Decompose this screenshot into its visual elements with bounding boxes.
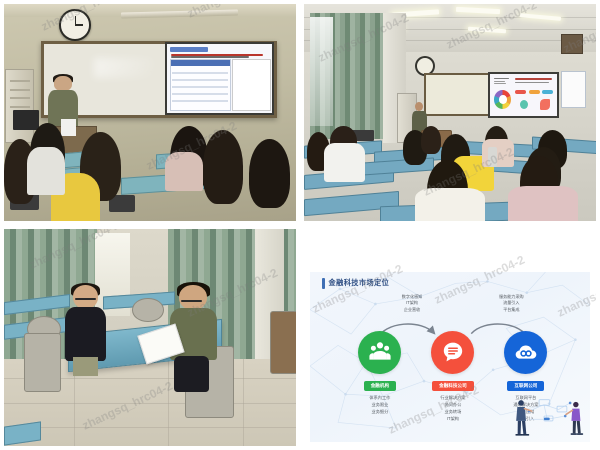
arrow-label-left: 数字化感知 IT架构 企业营收 (368, 294, 456, 313)
window (310, 17, 333, 126)
arrow-label-right-line-3: 平台集成 (465, 307, 558, 313)
bullet: 业务细分 (339, 409, 421, 416)
student-shirt (27, 147, 65, 195)
slide-text-line (515, 78, 552, 79)
handheld-device (61, 119, 76, 136)
slide-title-text: 金融科技市场定位 (329, 278, 390, 288)
slide-table (170, 59, 231, 111)
desktop-monitor (13, 110, 39, 130)
node-bullets-green: 体系内工作 业务限业 业务细分 (339, 395, 421, 415)
slide-text-line (494, 83, 506, 84)
panel-top-left: zhangsq_hrc04-2 zhangsq_hrc04-2 zhangsq_… (0, 0, 300, 225)
node-label-green: 金融机构 (364, 381, 396, 391)
student-shirt (482, 139, 514, 167)
person-right-head (179, 285, 207, 310)
node-fintech-company[interactable]: 金融科技公司 行业解决方案 协同办公 业务转场 IT架构 (412, 331, 494, 423)
illustration-person-left (516, 401, 532, 436)
panel-bottom-right: 金融科技市场定位 数字化感知 IT架构 企业营收 服务能力采购 流量引入 平台集… (300, 225, 600, 450)
title-accent-bar (322, 278, 325, 289)
interview-photo: zhangsq_hrc04-2 zhangsq_hrc04-2 zhangsq_… (4, 229, 296, 446)
student-shirt (324, 143, 365, 182)
slide-side-document (232, 59, 271, 111)
instructor-head (54, 76, 72, 92)
photo-collage: zhangsq_hrc04-2 zhangsq_hrc04-2 zhangsq_… (0, 0, 600, 450)
arrow-label-right: 服务能力采购 流量引入 平台集成 (465, 294, 558, 313)
slide-text-line (171, 54, 263, 56)
person-left-legs (73, 357, 98, 376)
student (421, 126, 441, 154)
slide-table-header (171, 60, 230, 65)
student-shirt (508, 186, 578, 221)
classroom-lecture-photo: zhangsq_hrc04-2 zhangsq_hrc04-2 zhangsq_… (4, 4, 296, 221)
slide-title: 金融科技市场定位 (322, 278, 390, 289)
node-circle-red (431, 331, 474, 374)
slide-block (542, 90, 553, 94)
people-group-icon (368, 340, 392, 364)
pie-chart (494, 90, 511, 109)
classroom-wide-photo: zhangsq_hrc04-2 zhangsq_hrc04-2 zhangsq_… (304, 4, 596, 221)
person-left-head (73, 285, 98, 308)
slide-table-row (172, 72, 229, 74)
illustration-person-right (566, 402, 583, 435)
cabinet (270, 311, 296, 374)
node-label-red: 金融科技公司 (432, 381, 474, 391)
wall-clock-icon (59, 9, 91, 40)
slide-text-line (494, 78, 509, 79)
slide-title-bar (170, 47, 208, 52)
air-conditioner-unit (5, 69, 33, 143)
arrow-label-left-line-3: 企业营收 (368, 307, 456, 313)
projection-screen (165, 42, 274, 115)
slide-table-row (172, 79, 229, 81)
water-bottle (488, 147, 497, 167)
panel-bottom-left: zhangsq_hrc04-2 zhangsq_hrc04-2 zhangsq_… (0, 225, 300, 450)
student (249, 139, 290, 208)
slide-graphic (540, 99, 551, 110)
eyeglasses-icon (181, 300, 202, 302)
slide-table-row (172, 93, 229, 95)
whiteboard (424, 73, 498, 116)
speech-bubble-icon (441, 340, 465, 364)
slide-text-line (494, 81, 505, 82)
slide-table-row (172, 100, 229, 102)
cloud-infinity-icon (513, 340, 538, 365)
node-circle-blue (504, 331, 547, 374)
fintech-positioning-slide: 金融科技市场定位 数字化感知 IT架构 企业营收 服务能力采购 流量引入 平台集… (304, 229, 596, 446)
bullet: IT架构 (412, 416, 494, 423)
student-shirt (415, 188, 485, 221)
panel-top-right: zhangsq_hrc04-2 zhangsq_hrc04-2 zhangsq_… (300, 0, 600, 225)
node-financial-institution[interactable]: 金融机构 体系内工作 业务限业 业务细分 (339, 331, 421, 416)
slide-text-line (515, 82, 549, 83)
slide-block (515, 90, 526, 94)
student (203, 130, 244, 204)
slide-block (529, 90, 540, 94)
wall-speaker (561, 34, 583, 53)
chair (132, 298, 163, 322)
chair (24, 333, 61, 391)
slide-text-line (171, 56, 249, 58)
wall-poster (561, 71, 586, 108)
instructor-head (415, 102, 423, 112)
node-circle-green (358, 331, 401, 374)
bullet: 业务转场 (412, 409, 494, 416)
whiteboard-glare (94, 58, 154, 77)
slide-graphic (520, 100, 528, 109)
person-left (65, 285, 106, 372)
projection-screen (488, 72, 559, 117)
person-right-legs (174, 356, 209, 391)
node-bullets-red: 行业解决方案 协同办公 业务转场 IT架构 (412, 395, 494, 422)
person-left-body (65, 307, 106, 361)
student-shirt (165, 152, 203, 191)
two-people-network-illustration (508, 387, 590, 443)
slide-table-row (172, 86, 229, 88)
